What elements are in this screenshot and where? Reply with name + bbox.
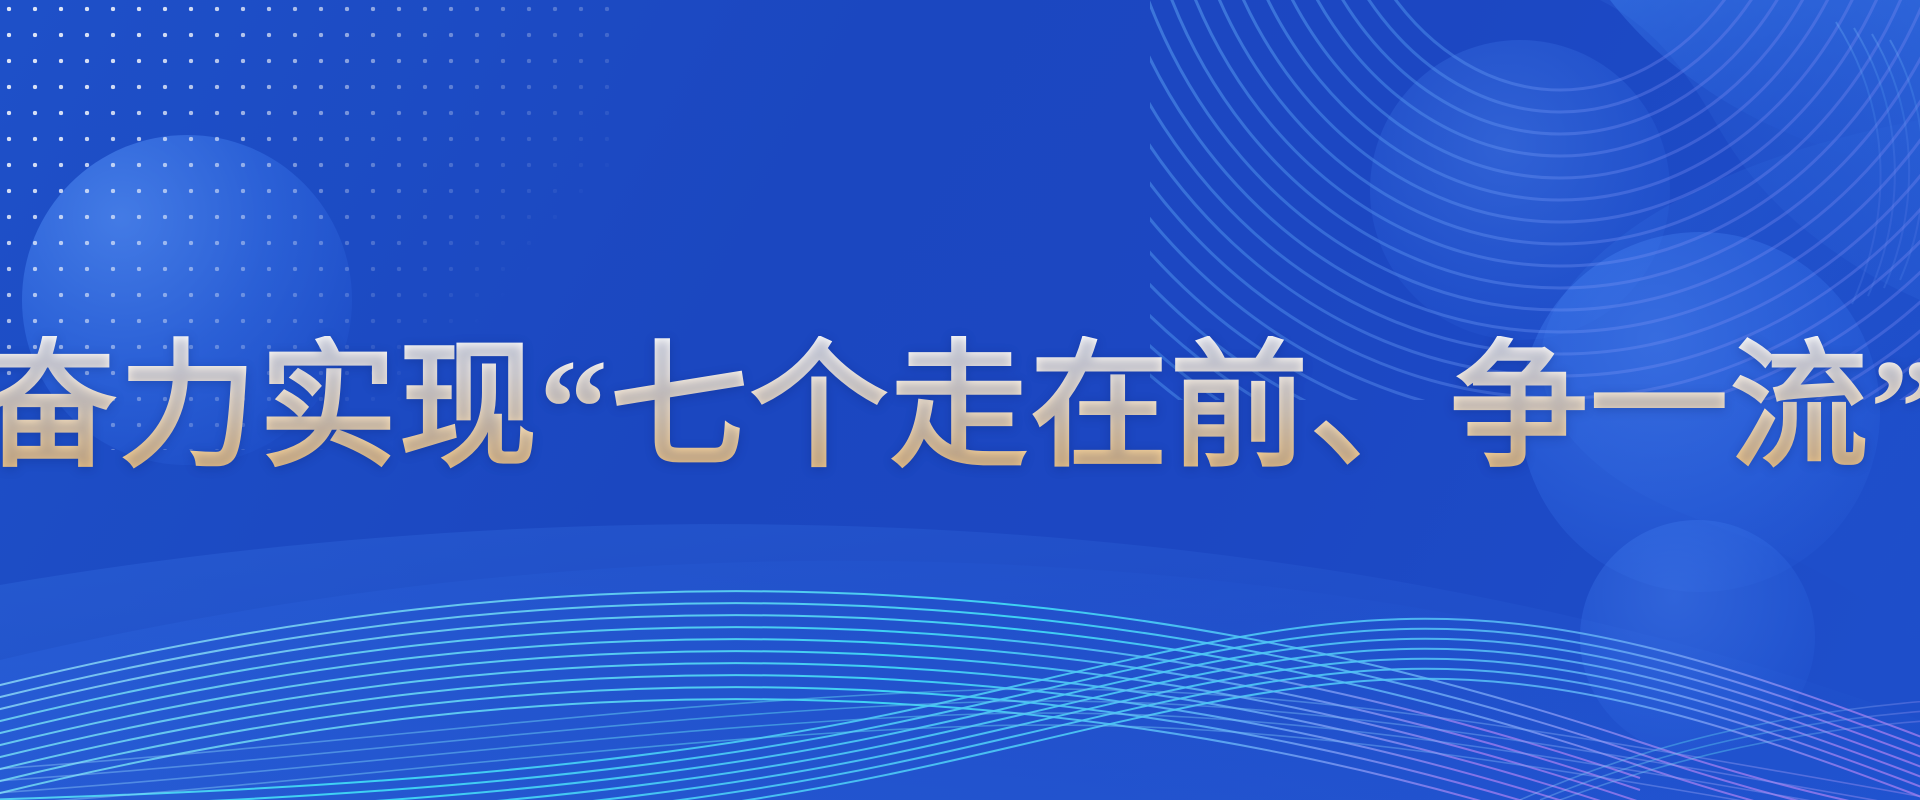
- banner-headline: 奋力实现“七个走在前、争一流”: [0, 336, 1920, 481]
- headline-container: 奋力实现“七个走在前、争一流”: [0, 0, 1920, 800]
- promo-banner: 奋力实现“七个走在前、争一流”: [0, 0, 1920, 800]
